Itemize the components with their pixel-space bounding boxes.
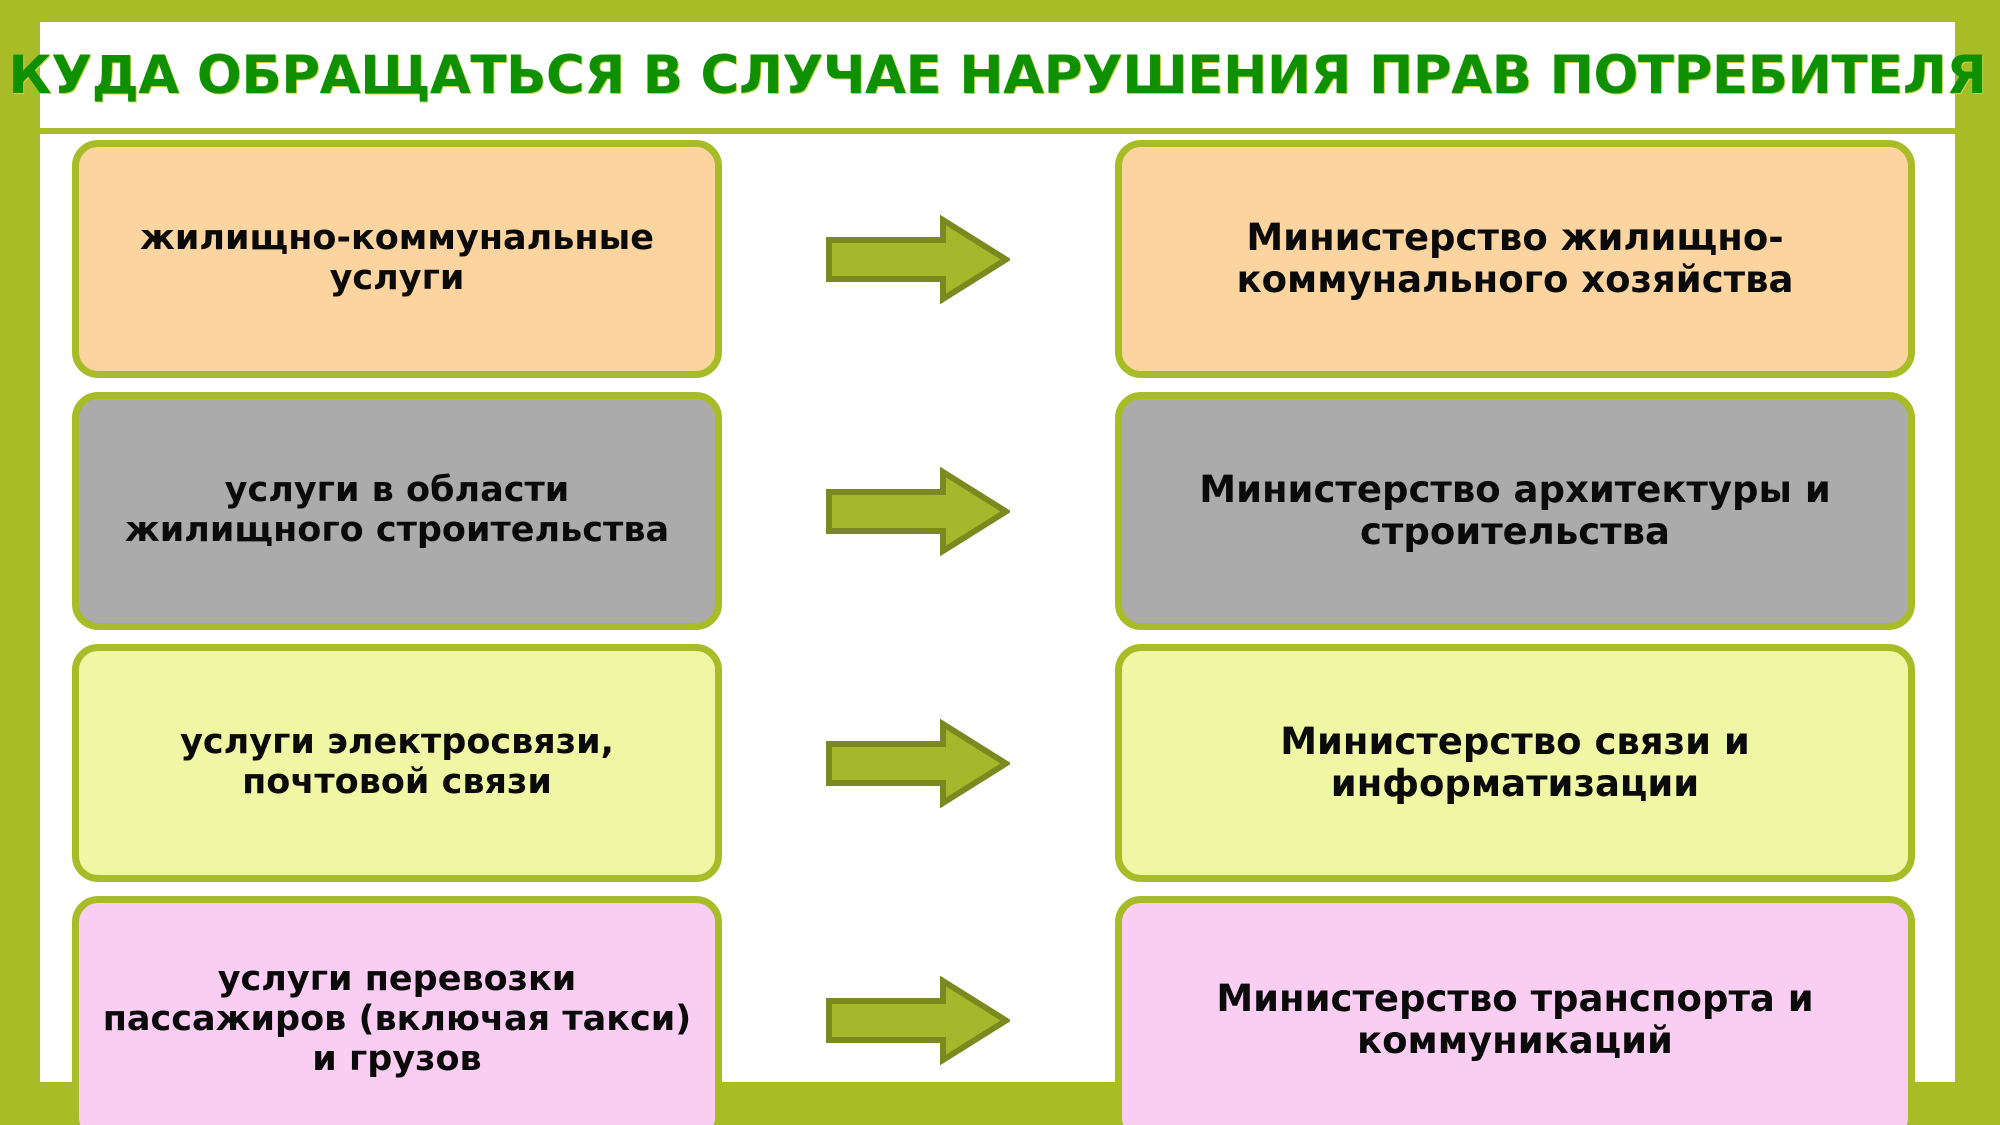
diagram-row: услуги электросвязи, почтовой связи Мини…	[40, 644, 1955, 882]
authority-box-telecom-post[interactable]: Министерство связи и информатизации	[1115, 644, 1915, 882]
page-title: КУДА ОБРАЩАТЬСЯ В СЛУЧАЕ НАРУШЕНИЯ ПРАВ …	[8, 49, 1986, 102]
arrow-right-icon	[825, 212, 1010, 307]
authority-label: Министерство транспорта и коммуникаций	[1144, 978, 1886, 1062]
service-box-telecom-post[interactable]: услуги электросвязи, почтовой связи	[72, 644, 722, 882]
arrow-right-icon	[825, 973, 1010, 1068]
slide-root: КУДА ОБРАЩАТЬСЯ В СЛУЧАЕ НАРУШЕНИЯ ПРАВ …	[0, 0, 2000, 1125]
arrow-right-icon	[825, 464, 1010, 559]
service-label: жилищно-коммунальные услуги	[101, 219, 693, 299]
service-box-transport[interactable]: услуги перевозки пассажиров (включая так…	[72, 896, 722, 1125]
diagram-row: жилищно-коммунальные услуги Министерство…	[40, 140, 1955, 378]
title-bar: КУДА ОБРАЩАТЬСЯ В СЛУЧАЕ НАРУШЕНИЯ ПРАВ …	[40, 22, 1955, 128]
authority-label: Министерство жилищно-коммунального хозяй…	[1144, 217, 1886, 301]
arrow-cell	[740, 140, 1095, 378]
arrow-cell	[740, 644, 1095, 882]
diagram-row: услуги перевозки пассажиров (включая так…	[40, 896, 1955, 1125]
authority-label: Министерство связи и информатизации	[1144, 721, 1886, 805]
arrow-right-icon	[825, 716, 1010, 811]
arrow-cell	[740, 896, 1095, 1125]
service-label: услуги в области жилищного строительства	[101, 471, 693, 551]
diagram-row: услуги в области жилищного строительства…	[40, 392, 1955, 630]
service-label: услуги перевозки пассажиров (включая так…	[101, 960, 693, 1080]
authority-box-housing-utilities[interactable]: Министерство жилищно-коммунального хозяй…	[1115, 140, 1915, 378]
service-box-housing-utilities[interactable]: жилищно-коммунальные услуги	[72, 140, 722, 378]
diagram-rows: жилищно-коммунальные услуги Министерство…	[40, 134, 1955, 1082]
slide-canvas: КУДА ОБРАЩАТЬСЯ В СЛУЧАЕ НАРУШЕНИЯ ПРАВ …	[40, 22, 1955, 1082]
service-label: услуги электросвязи, почтовой связи	[101, 723, 693, 803]
service-box-housing-construction[interactable]: услуги в области жилищного строительства	[72, 392, 722, 630]
authority-label: Министерство архитектуры и строительства	[1144, 469, 1886, 553]
arrow-cell	[740, 392, 1095, 630]
authority-box-housing-construction[interactable]: Министерство архитектуры и строительства	[1115, 392, 1915, 630]
authority-box-transport[interactable]: Министерство транспорта и коммуникаций	[1115, 896, 1915, 1125]
